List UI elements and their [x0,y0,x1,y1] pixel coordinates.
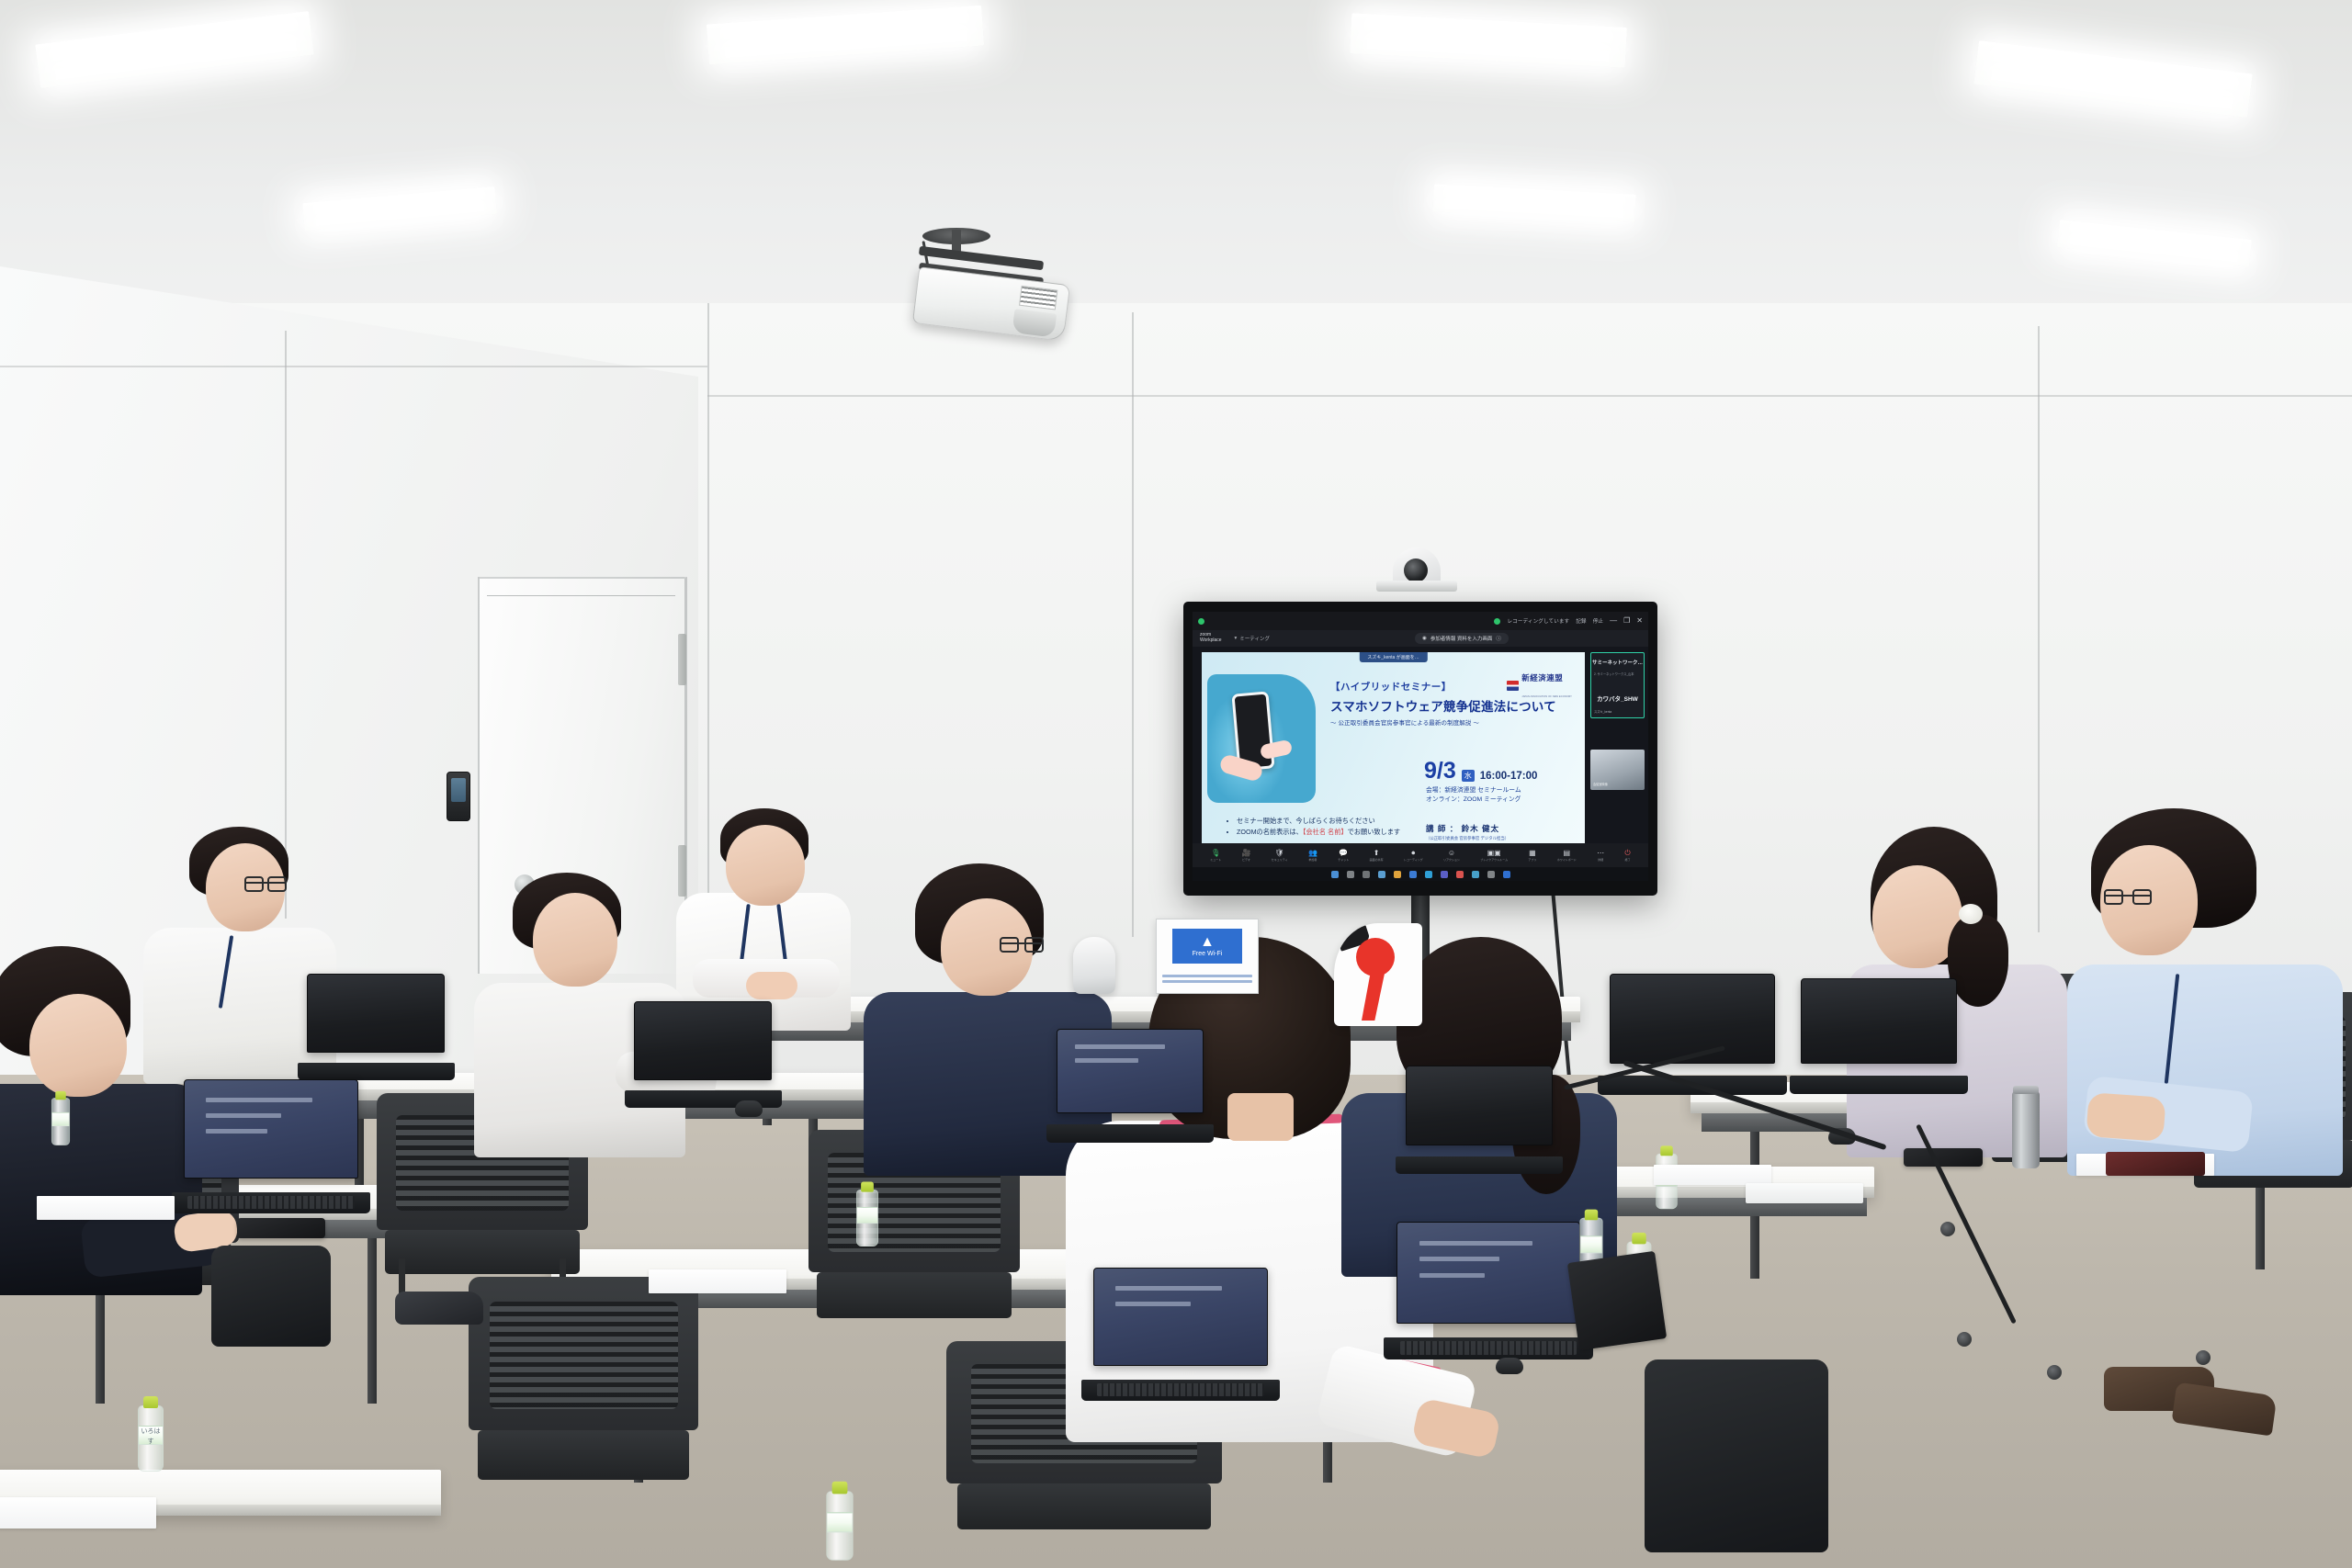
ceiling-light [35,11,314,88]
ceiling-light [2057,220,2252,267]
wifi-badge: ▲ Free Wi-Fi [1172,929,1242,964]
camera-lens-icon [1404,558,1428,582]
laptop[interactable] [1093,1268,1268,1401]
recording-status: レコーディングしています [1507,617,1569,625]
laptop[interactable] [184,1079,358,1213]
slide-photo-smartphone [1207,674,1316,803]
crane-standee [1334,923,1422,1026]
laptop[interactable] [1396,1222,1580,1359]
record-button[interactable]: 記録 [1576,617,1586,625]
slide-note-item: セミナー開始まで、今しばらくお待ちください [1237,816,1572,827]
neck [1227,1093,1294,1141]
info-icon[interactable]: ⓘ [1496,635,1501,642]
glasses-icon [244,882,287,884]
file-explorer-icon[interactable] [1394,871,1401,878]
laptop[interactable] [634,1001,772,1108]
settings-icon[interactable] [1487,871,1495,878]
record-button[interactable]: ⏺レコーディング [1404,850,1423,862]
wall-seam [707,395,2352,397]
whiteboard-button[interactable]: ▤ホワイトボード [1557,850,1577,862]
participants-icon: 👥 [1308,850,1317,857]
participants-button[interactable]: 👥参加者 [1308,850,1317,862]
windows-taskbar [1193,867,1648,881]
participant-strip: サミーネットワーク… 2. サミーネットワークス_山本 カワバタ_SHW スズキ… [1588,647,1648,843]
stop-button[interactable]: 停止 [1593,617,1603,625]
participant-tile-room[interactable]: 会議室映像 [1590,750,1645,790]
slide-heading-block: 【ハイブリッドセミナー】 スマホソフトウェア競争促進法について ～ 公正取引委員… [1330,680,1572,727]
widgets-icon[interactable] [1378,871,1385,878]
chair-caster [2196,1350,2211,1365]
wall-seam [1132,312,1134,937]
slide-time: 16:00-17:00 [1480,771,1538,782]
zoom-icon[interactable] [1503,871,1510,878]
hand [2086,1092,2165,1142]
laptop[interactable] [1801,978,1957,1094]
leave-icon: ⏻ [1624,850,1630,857]
zoom-title-bar: レコーディングしています 記録 停止 — ❐ ✕ [1193,612,1648,630]
chat-button[interactable]: 💬チャット [1338,850,1349,862]
chat-icon: 💬 [1339,850,1348,857]
document-sheet [1654,1165,1771,1185]
whiteboard-icon: ▤ [1563,850,1570,857]
search-icon[interactable] [1347,871,1354,878]
camera-base [1376,581,1457,592]
document-sheet [37,1196,175,1220]
head [29,994,127,1097]
ceiling-light [707,6,984,65]
share-screen-icon: ⬆ [1374,850,1380,857]
share-screen-button[interactable]: ⬆画面の共有 [1370,850,1384,862]
slide-kicker: 【ハイブリッドセミナー】 [1330,680,1572,694]
display-screen[interactable]: レコーディングしています 記録 停止 — ❐ ✕ zoom Workplace … [1193,612,1648,881]
store-icon[interactable] [1472,871,1479,878]
slide-note-item: ZOOMの名前表示は、【会社名 名前】でお願い致します [1237,827,1572,838]
notebook [1746,1183,1863,1203]
chair[interactable] [469,1277,698,1525]
more-icon: ⋯ [1597,850,1604,857]
slide-title: スマホソフトウェア競争促進法について [1330,696,1572,715]
laptop[interactable] [1610,974,1775,1095]
slide-venue: 会場：新経済連盟 セミナールーム オンライン：ZOOM ミーティング [1426,786,1521,805]
hands [746,972,797,999]
teams-icon[interactable] [1441,871,1448,878]
minimize-icon[interactable]: — [1610,617,1617,625]
conference-speakerphone[interactable] [1073,937,1115,994]
backpack[interactable] [1645,1359,1828,1552]
smartphone[interactable] [237,1218,325,1238]
start-icon[interactable] [1331,871,1339,878]
breakout-button[interactable]: ▣▣ブレイクアウトルーム [1480,850,1508,862]
chevron-down-icon: ▾ [1235,636,1238,641]
wifi-label: Free Wi-Fi [1193,951,1223,957]
apps-icon: ▦ [1529,850,1536,857]
reactions-icon: ☺ [1448,850,1455,857]
table-leg [367,1238,377,1404]
chrome-icon[interactable] [1456,871,1464,878]
projector-lens [1012,309,1057,337]
zoom-meeting-body: スズキ_kenta が画面を… 新経済連盟 JAPAN ASSOCIATION … [1193,647,1648,843]
free-wifi-sign: ▲ Free Wi-Fi [1156,919,1259,994]
steel-tumbler[interactable] [2012,1091,2040,1168]
edge-icon[interactable] [1425,871,1432,878]
tablet-device[interactable] [1567,1251,1667,1350]
water-bottle[interactable]: いろはす [138,1405,164,1472]
bag[interactable] [211,1246,331,1347]
ceiling-light [1973,40,2253,118]
card-reader[interactable] [447,772,470,821]
water-bottle[interactable] [826,1491,853,1561]
head [533,893,617,987]
security-button[interactable]: 🛡セキュリティ [1272,850,1288,862]
wifi-icon: ▲ [1200,935,1215,950]
water-bottle[interactable] [51,1098,70,1145]
mouse[interactable] [735,1100,763,1117]
slide-day-badge: 水 [1462,770,1475,782]
person-attendee-right-2 [2067,808,2343,1176]
maximize-icon[interactable]: ❐ [1623,617,1630,625]
zoom-menu-bar: zoom Workplace ▾ ミーティング ◉ 参加者情報 資料を入力画面 … [1193,630,1648,647]
zoom-toolbar: 🎙ミュート 🎥ビデオ 🛡セキュリティ 👥参加者 💬チャット ⬆画面の共有 ⏺レコ… [1193,843,1648,867]
laptop[interactable] [307,974,445,1080]
video-camera-icon: 🎥 [1242,850,1251,857]
chair-caster [1957,1332,1972,1347]
wall-seam [0,366,707,367]
smartphone[interactable] [1904,1148,1983,1167]
status-dot [1198,618,1204,625]
hair-tie [1959,904,1983,924]
slide-subtitle: ～ 公正取引委員会官房参事官による最新の制度解説 ～ [1330,717,1572,727]
mic-button[interactable]: 🎙ミュート [1210,850,1221,862]
shoe [395,1292,483,1325]
head [941,898,1033,996]
bottle-label: いろはす [139,1426,163,1445]
zoom-logo: zoom Workplace [1200,633,1222,644]
document-sheet [0,1497,156,1529]
video-button[interactable]: 🎥ビデオ [1242,850,1251,862]
slide-datetime: 9/3 水 16:00-17:00 [1424,761,1537,782]
recording-dot-icon [1494,618,1500,625]
screen-share-tab: スズキ_kenta が画面を… [1359,652,1427,662]
head [726,825,805,906]
more-button[interactable]: ⋯詳細 [1597,850,1604,862]
person-attendee-left-2 [0,946,202,1295]
shield-icon: ◉ [1422,636,1427,641]
document-sheet [649,1269,786,1293]
breakout-icon: ▣▣ [1487,850,1501,857]
water-bottle[interactable] [856,1190,878,1247]
record-icon: ⏺ [1411,850,1415,857]
ceiling-light [302,186,497,231]
task-view-icon[interactable] [1363,871,1370,878]
mail-icon[interactable] [1409,871,1417,878]
slide-notes: セミナー開始まで、今しばらくお待ちください ZOOMの名前表示は、【会社名 名前… [1224,816,1572,838]
laptop[interactable] [1057,1029,1204,1143]
laptop[interactable] [1406,1066,1553,1174]
chair-caster [2047,1365,2062,1380]
ceiling-light [1432,184,1635,221]
mouse[interactable] [1496,1358,1523,1374]
shield-icon: 🛡 [1275,850,1284,857]
microphone-icon: 🎙 [1211,850,1220,857]
ceiling-light [1350,13,1627,68]
meeting-room-scene: レコーディングしています 記録 停止 — ❐ ✕ zoom Workplace … [0,0,2352,1568]
close-icon[interactable]: ✕ [1636,617,1643,625]
wallet[interactable] [2106,1152,2205,1176]
wall-display[interactable]: レコーディングしています 記録 停止 — ❐ ✕ zoom Workplace … [1183,602,1657,896]
leave-button[interactable]: ⏻終了 [1624,850,1630,862]
chair-caster [1940,1222,1955,1236]
apps-button[interactable]: ▦アプリ [1528,850,1536,862]
meeting-info-chip[interactable]: ◉ 参加者情報 資料を入力画面 ⓘ [1415,633,1509,644]
slide-date: 9/3 [1424,761,1456,782]
glasses-icon [2104,895,2152,897]
menu-item-meeting[interactable]: ▾ ミーティング [1235,635,1270,642]
reactions-button[interactable]: ☺リアクション [1443,850,1460,862]
participant-tile[interactable]: サミーネットワーク… 2. サミーネットワークス_山本 カワバタ_SHW スズキ… [1590,652,1645,718]
shared-slide: スズキ_kenta が画面を… 新経済連盟 JAPAN ASSOCIATION … [1202,652,1585,843]
